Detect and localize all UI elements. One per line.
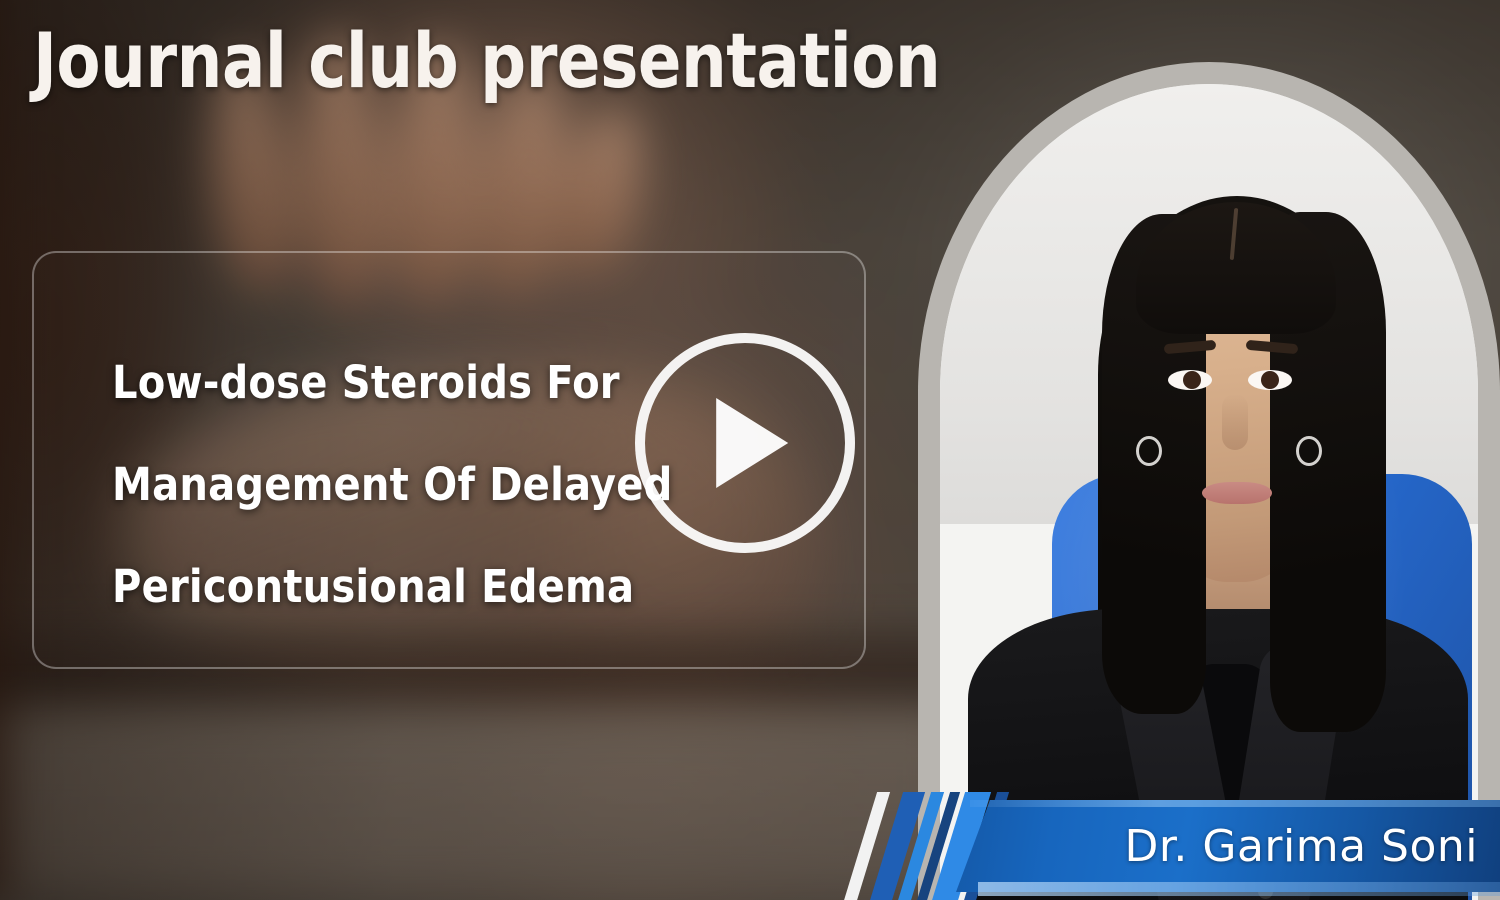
presenter-name-banner: Dr. Garima Soni bbox=[848, 796, 1500, 900]
presenter-mouth bbox=[1202, 482, 1272, 504]
presenter-earring-left bbox=[1136, 436, 1162, 466]
presenter-name: Dr. Garima Soni bbox=[956, 800, 1500, 892]
video-thumbnail: Journal club presentation Low-dose Stero… bbox=[0, 0, 1500, 900]
play-button[interactable] bbox=[635, 333, 855, 553]
page-title: Journal club presentation bbox=[33, 22, 940, 100]
presenter-portrait bbox=[918, 62, 1500, 900]
portrait-disc bbox=[940, 84, 1478, 900]
presenter-eye-left bbox=[1168, 370, 1212, 390]
presenter-eye-right bbox=[1248, 370, 1292, 390]
subtitle-line-3: Pericontusional Edema bbox=[112, 536, 805, 638]
play-triangle-icon bbox=[716, 398, 788, 488]
presenter-nose bbox=[1222, 394, 1248, 450]
presenter-earring-right bbox=[1296, 436, 1322, 466]
